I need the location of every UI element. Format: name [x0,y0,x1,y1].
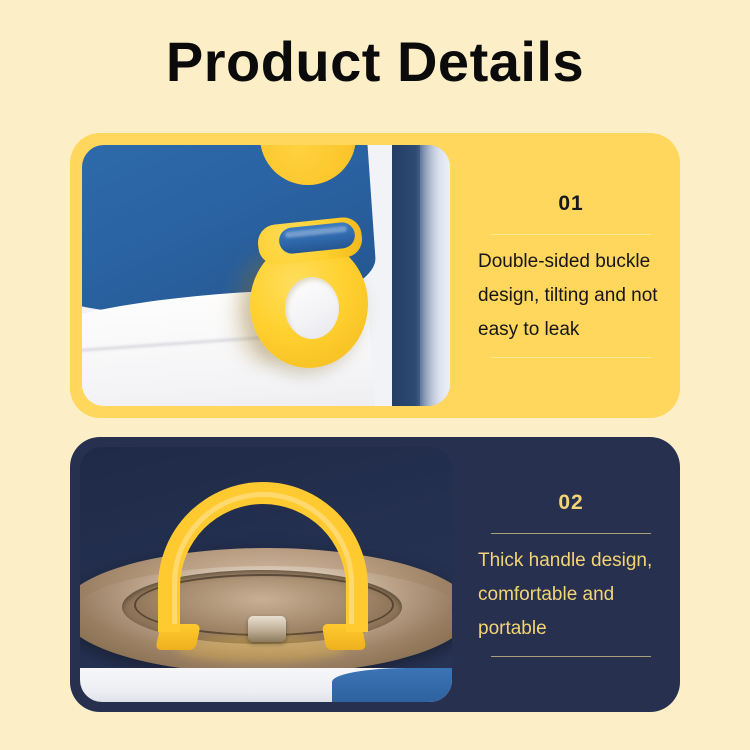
product-photo-handle [80,447,452,702]
feature-card-01: 01 Double-sided buckle design, tilting a… [70,133,680,418]
flask-base-blue [332,668,452,702]
feature-text-panel-02: 02 Thick handle design, comfortable and … [462,437,680,712]
product-photo-buckle [82,145,450,406]
ring-buckle-hole [285,277,339,339]
step-description-02: Thick handle design, comfortable and por… [476,534,666,656]
handle-center-clip [248,616,286,642]
photo-background-right-highlight [420,145,450,406]
divider-bottom-02 [491,656,651,657]
step-number-02: 02 [558,492,583,513]
product-details-page: Product Details 01 Double-sided buckle d… [0,0,750,750]
page-title: Product Details [0,26,750,98]
divider-bottom-01 [491,357,651,358]
feature-card-02: 02 Thick handle design, comfortable and … [70,437,680,712]
step-number-01: 01 [558,193,583,214]
feature-text-panel-01: 01 Double-sided buckle design, tilting a… [462,133,680,418]
step-description-01: Double-sided buckle design, tilting and … [476,235,666,357]
